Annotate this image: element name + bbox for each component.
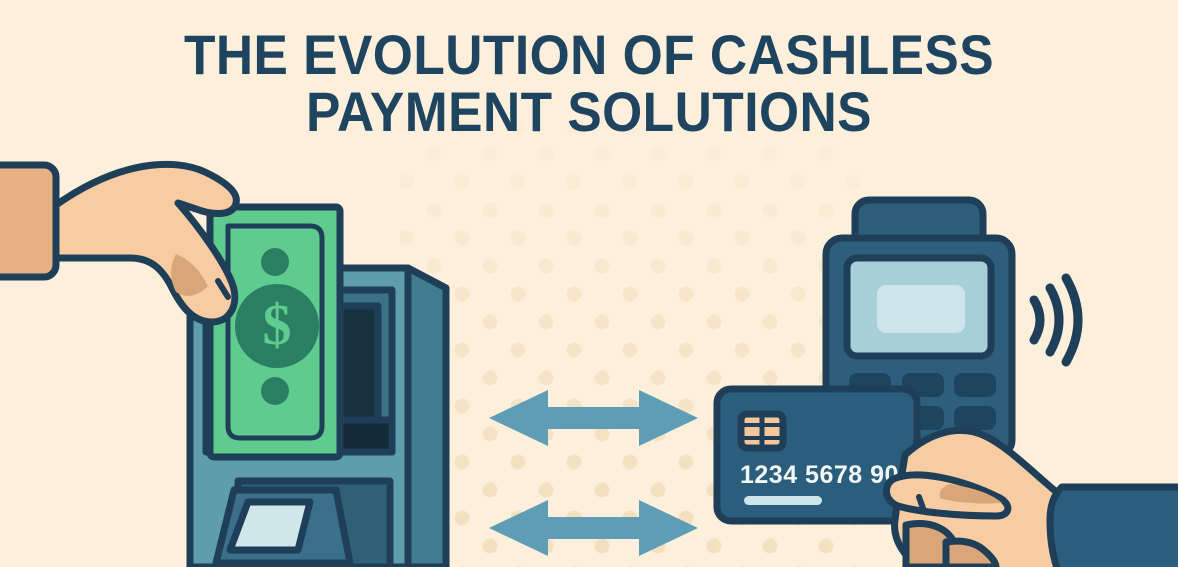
title-line-2: PAYMENT SOLUTIONS <box>47 83 1131 140</box>
title-line-1: THE EVOLUTION OF CASHLESS <box>47 26 1131 83</box>
illustration-canvas: THE EVOLUTION OF CASHLESS PAYMENT SOLUTI… <box>0 0 1178 567</box>
right-sleeve-cuff <box>1050 487 1178 567</box>
page-title: THE EVOLUTION OF CASHLESS PAYMENT SOLUTI… <box>47 26 1131 140</box>
